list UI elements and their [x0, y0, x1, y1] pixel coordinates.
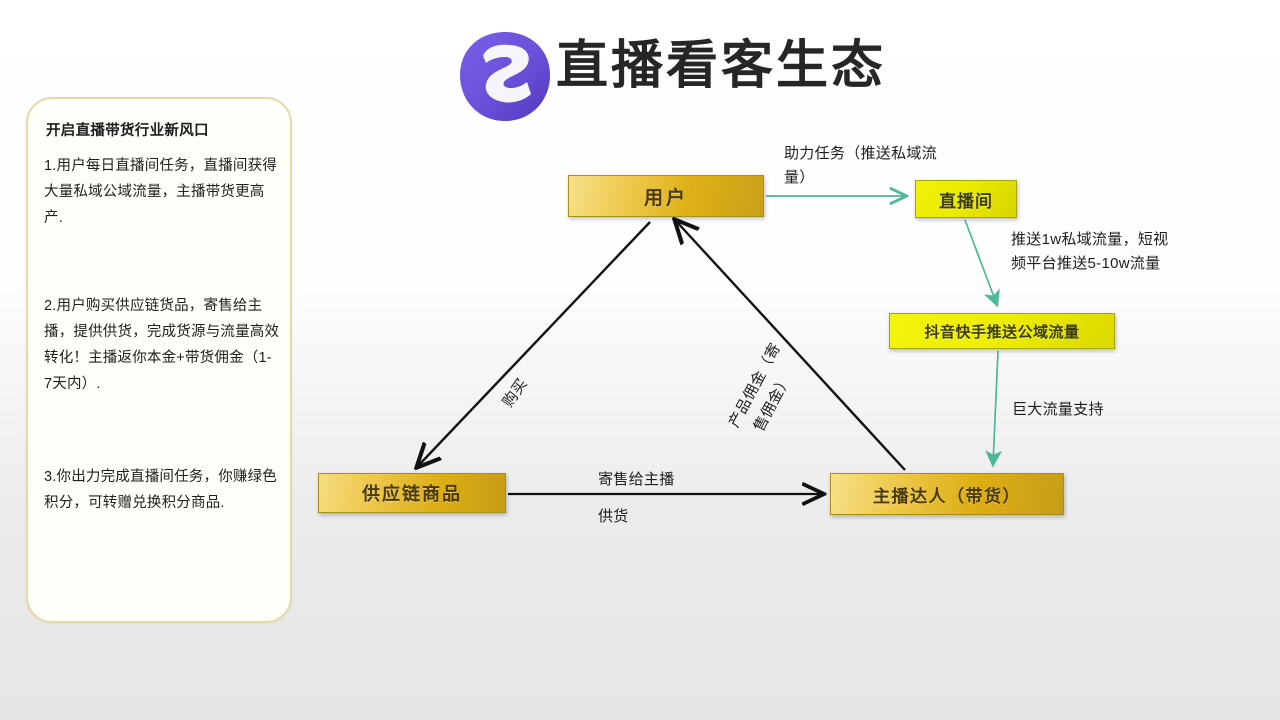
edge-label-buy: 购买 [497, 374, 532, 411]
node-user[interactable]: 用户 [568, 175, 764, 217]
node-anchor-influencer[interactable]: 主播达人（带货） [830, 473, 1064, 515]
edge-user-to-supply [418, 222, 650, 466]
edge-label-supply-goods: 供货 [598, 505, 629, 529]
page-title: 直播看客生态 [556, 36, 886, 96]
info-card-paragraph-1: 1.用户每日直播间任务，直播间获得大量私域公域流量，主播带货更高产. [44, 153, 280, 231]
purple-z-logo-icon [455, 28, 555, 126]
node-supply-chain-goods[interactable]: 供应链商品 [318, 473, 506, 513]
info-card-title: 开启直播带货行业新风口 [46, 119, 209, 140]
edge-label-huge-support: 巨大流量支持 [1012, 398, 1104, 422]
info-card: 开启直播带货行业新风口 1.用户每日直播间任务，直播间获得大量私域公域流量，主播… [26, 97, 292, 623]
slide-canvas: 开启直播带货行业新风口 1.用户每日直播间任务，直播间获得大量私域公域流量，主播… [0, 0, 1280, 720]
info-card-paragraph-2: 2.用户购买供应链货品，寄售给主播，提供供货，完成货源与流量高效转化！主播返你本… [44, 293, 280, 397]
node-public-traffic[interactable]: 抖音快手推送公域流量 [889, 313, 1115, 349]
edge-public-to-anchor [993, 351, 998, 465]
edge-label-consign: 寄售给主播 [598, 468, 675, 492]
edge-label-boost-task: 助力任务（推送私域流量） [784, 142, 954, 190]
edge-room-to-public [965, 220, 997, 305]
edge-label-push-traffic: 推送1w私域流量，短视频平台推送5-10w流量 [1011, 228, 1179, 276]
edge-anchor-to-user [676, 221, 905, 470]
info-card-paragraph-3: 3.你出力完成直播间任务，你赚绿色积分，可转赠兑换积分商品. [44, 464, 280, 516]
